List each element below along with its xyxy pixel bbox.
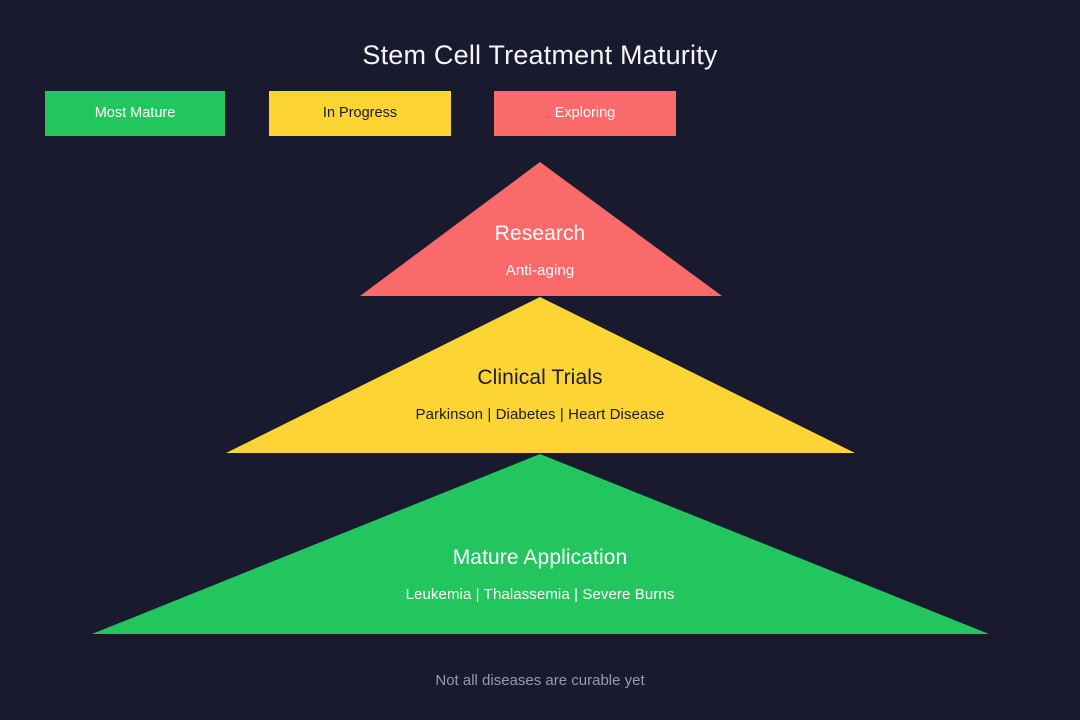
maturity-pyramid: Research Anti-aging Clinical Trials Park… (0, 0, 1080, 720)
pyramid-layer-mature-application-triangle[interactable] (92, 454, 989, 634)
footer-note: Not all diseases are curable yet (0, 671, 1080, 691)
pyramid-layer-research-triangle[interactable] (360, 162, 722, 296)
pyramid-layer-clinical-trials-triangle[interactable] (226, 297, 855, 453)
pyramid-chart-canvas: Stem Cell Treatment Maturity Most Mature… (0, 0, 1080, 720)
